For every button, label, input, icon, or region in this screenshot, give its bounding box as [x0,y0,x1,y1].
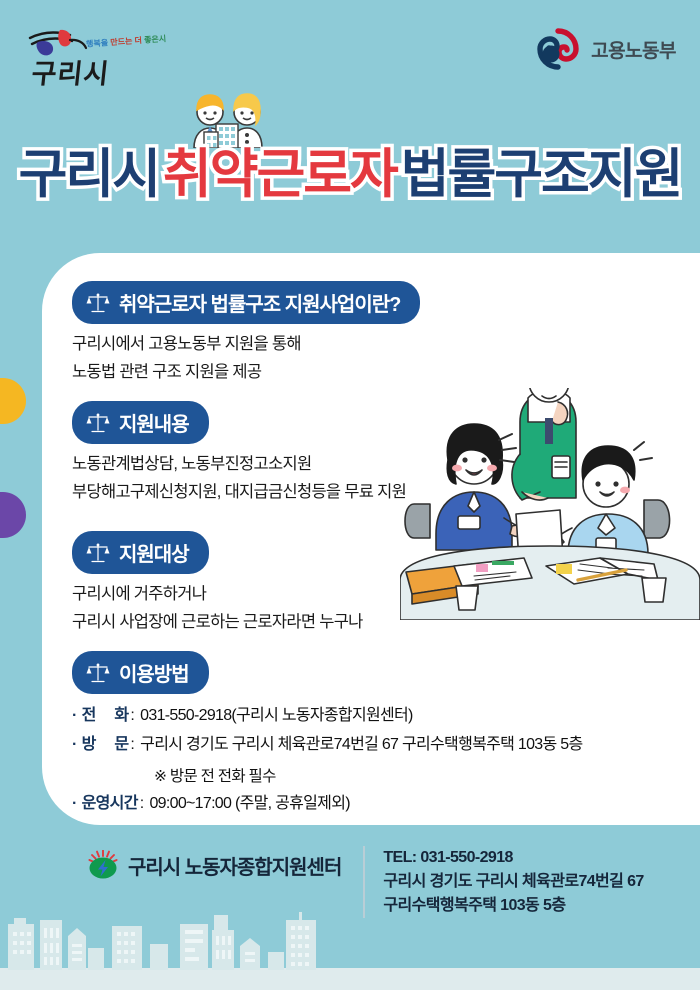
ministry-name: 고용노동부 [591,36,676,63]
section-eligibility-body: 구리시에 거주하거나 구리시 사업장에 근로하는 근로자라면 누구나 [72,583,363,635]
footer-divider [363,846,365,918]
two-people-with-building-icon [176,82,278,148]
usage-row-phone: · 전 화 : 031-550-2918(구리시 노동자종합지원센터) [72,705,582,727]
section-usage-badge: 이용방법 [72,651,209,694]
decorative-arc-yellow [0,378,26,424]
guri-slogan-part2: 만드는 더 [110,36,144,47]
guri-labor-center-logo-icon [88,850,118,880]
usage-visit-value: 구리시 경기도 구리시 체육관로74번길 67 구리수택행복주택 103동 5층 [140,734,582,756]
section-support-content-line-1: 노동관계법상담, 노동부진정고소지원 [72,453,406,477]
poster-title: 구리시취약근로자법률구조지원 [0,148,700,201]
usage-phone-label: 전 화 [82,705,129,727]
poster-root: 행복을 만드는 더 좋은시 구리시 고용노동부 [0,0,700,990]
scales-of-justice-icon [86,292,110,314]
section-usage: 이용방법 · 전 화 : 031-550-2918(구리시 노동자종합지원센터)… [72,651,582,822]
section-eligibility-title: 지원대상 [119,538,189,567]
section-eligibility: 지원대상 구리시에 거주하거나 구리시 사업장에 근로하는 근로자라면 누구나 [72,531,363,639]
guri-slogan-part1: 행복을 [86,38,111,49]
section-support-content-title: 지원내용 [119,408,189,437]
usage-row-hours: · 운영시간 : 09:00~17:00 (주말, 공휴일제외) [72,793,582,815]
usage-visit-colon: : [130,734,134,756]
usage-phone-colon: : [130,705,134,727]
section-eligibility-line-2: 구리시 사업장에 근로하는 근로자라면 누구나 [72,611,363,635]
guri-city-logo: 행복을 만드는 더 좋은시 구리시 [24,24,154,80]
section-about-body: 구리시에서 고용노동부 지원을 통해 노동법 관련 구조 지원을 제공 [72,333,420,385]
decorative-arc-purple [0,492,26,538]
section-eligibility-badge: 지원대상 [72,531,209,574]
guri-slogan: 행복을 만드는 더 좋은시 [86,33,167,50]
guri-slogan-part3: 좋은시 [144,34,167,45]
ministry-logo: 고용노동부 [537,28,676,70]
three-people-meeting-illustration [400,388,700,620]
section-about-line-2: 노동법 관련 구조 지원을 제공 [72,361,420,385]
scales-of-justice-icon [86,542,110,564]
cityscape-silhouette [0,910,700,990]
scales-of-justice-icon [86,662,110,684]
section-about-title: 취약근로자 법률구조 지원사업이란? [119,288,400,317]
footer-address-line-1: 구리시 경기도 구리시 체육관로74번길 67 [383,870,643,894]
usage-phone-value: 031-550-2918(구리시 노동자종합지원센터) [140,705,412,727]
section-about-line-1: 구리시에서 고용노동부 지원을 통해 [72,333,420,357]
bullet-dot-icon: · [72,793,77,815]
title-part-vulnerable-workers: 취약근로자 [163,148,397,201]
section-support-content-badge: 지원내용 [72,401,209,444]
footer-tel: TEL: 031-550-2918 [383,846,643,870]
section-support-content-body: 노동관계법상담, 노동부진정고소지원 부당해고구제신청지원, 대지급금신청등을 … [72,453,406,505]
guri-city-name: 구리시 [30,52,112,91]
title-part-legal-aid: 법률구조지원 [401,148,682,201]
scales-of-justice-icon [86,412,110,434]
taegeuk-government-symbol-icon [537,28,579,70]
usage-visit-label: 방 문 [82,734,129,756]
section-usage-title: 이용방법 [119,658,189,687]
usage-visit-note: ※ 방문 전 전화 필수 [154,764,582,786]
usage-row-visit: · 방 문 : 구리시 경기도 구리시 체육관로74번길 67 구리수택행복주택… [72,734,582,756]
bullet-dot-icon: · [72,734,77,756]
bullet-dot-icon: · [72,705,77,727]
footer-contact: TEL: 031-550-2918 구리시 경기도 구리시 체육관로74번길 6… [383,846,643,918]
title-part-city: 구리시 [19,148,159,201]
usage-list: · 전 화 : 031-550-2918(구리시 노동자종합지원센터) · 방 … [72,705,582,815]
section-support-content-line-2: 부당해고구제신청지원, 대지급금신청등을 무료 지원 [72,481,406,505]
section-support-content: 지원내용 노동관계법상담, 노동부진정고소지원 부당해고구제신청지원, 대지급금… [72,401,406,509]
section-about: 취약근로자 법률구조 지원사업이란? 구리시에서 고용노동부 지원을 통해 노동… [72,281,420,389]
usage-hours-label: 운영시간 [82,793,138,815]
footer-center-name: 구리시 노동자종합지원센터 [128,851,341,880]
section-eligibility-line-1: 구리시에 거주하거나 [72,583,363,607]
section-about-badge: 취약근로자 법률구조 지원사업이란? [72,281,420,324]
usage-hours-colon: : [140,793,144,815]
usage-hours-value: 09:00~17:00 (주말, 공휴일제외) [149,793,349,815]
